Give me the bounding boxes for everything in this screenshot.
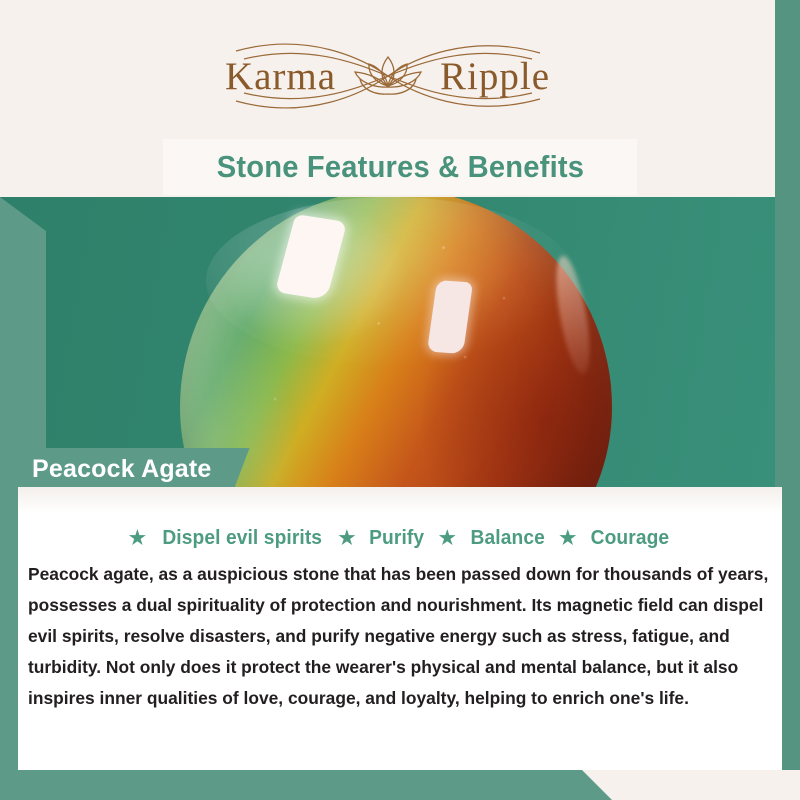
- star-icon: ★: [559, 529, 576, 548]
- section-title-banner: Stone Features & Benefits: [163, 139, 637, 195]
- product-name-tag: Peacock Agate: [0, 448, 250, 490]
- brand-name-left: Karma: [225, 54, 336, 99]
- feature-label: Purify: [370, 527, 425, 550]
- description-text: Peacock agate, as a auspicious stone tha…: [28, 559, 770, 714]
- content-card: ★Dispel evil spirits★Purify★Balance★Cour…: [18, 487, 782, 771]
- card-top-fade: [18, 487, 782, 513]
- brand-logo: Karma Ripple: [0, 28, 775, 124]
- star-icon: ★: [129, 529, 146, 548]
- brand-name-right: Ripple: [440, 54, 550, 99]
- left-edge-accent: [0, 487, 18, 770]
- feature-label: Dispel evil spirits: [162, 527, 322, 550]
- feature-list: ★Dispel evil spirits★Purify★Balance★Cour…: [18, 527, 782, 550]
- infographic-page: Karma Ripple Stone Features & Benefits P…: [0, 0, 800, 800]
- star-icon: ★: [338, 529, 355, 548]
- product-name: Peacock Agate: [32, 455, 212, 484]
- star-icon: ★: [439, 529, 456, 548]
- feature-label: Courage: [591, 527, 670, 550]
- footer-strip: [0, 770, 800, 800]
- footer-teal-accent: [0, 770, 612, 800]
- page-title: Stone Features & Benefits: [216, 149, 583, 185]
- feature-label: Balance: [470, 527, 544, 550]
